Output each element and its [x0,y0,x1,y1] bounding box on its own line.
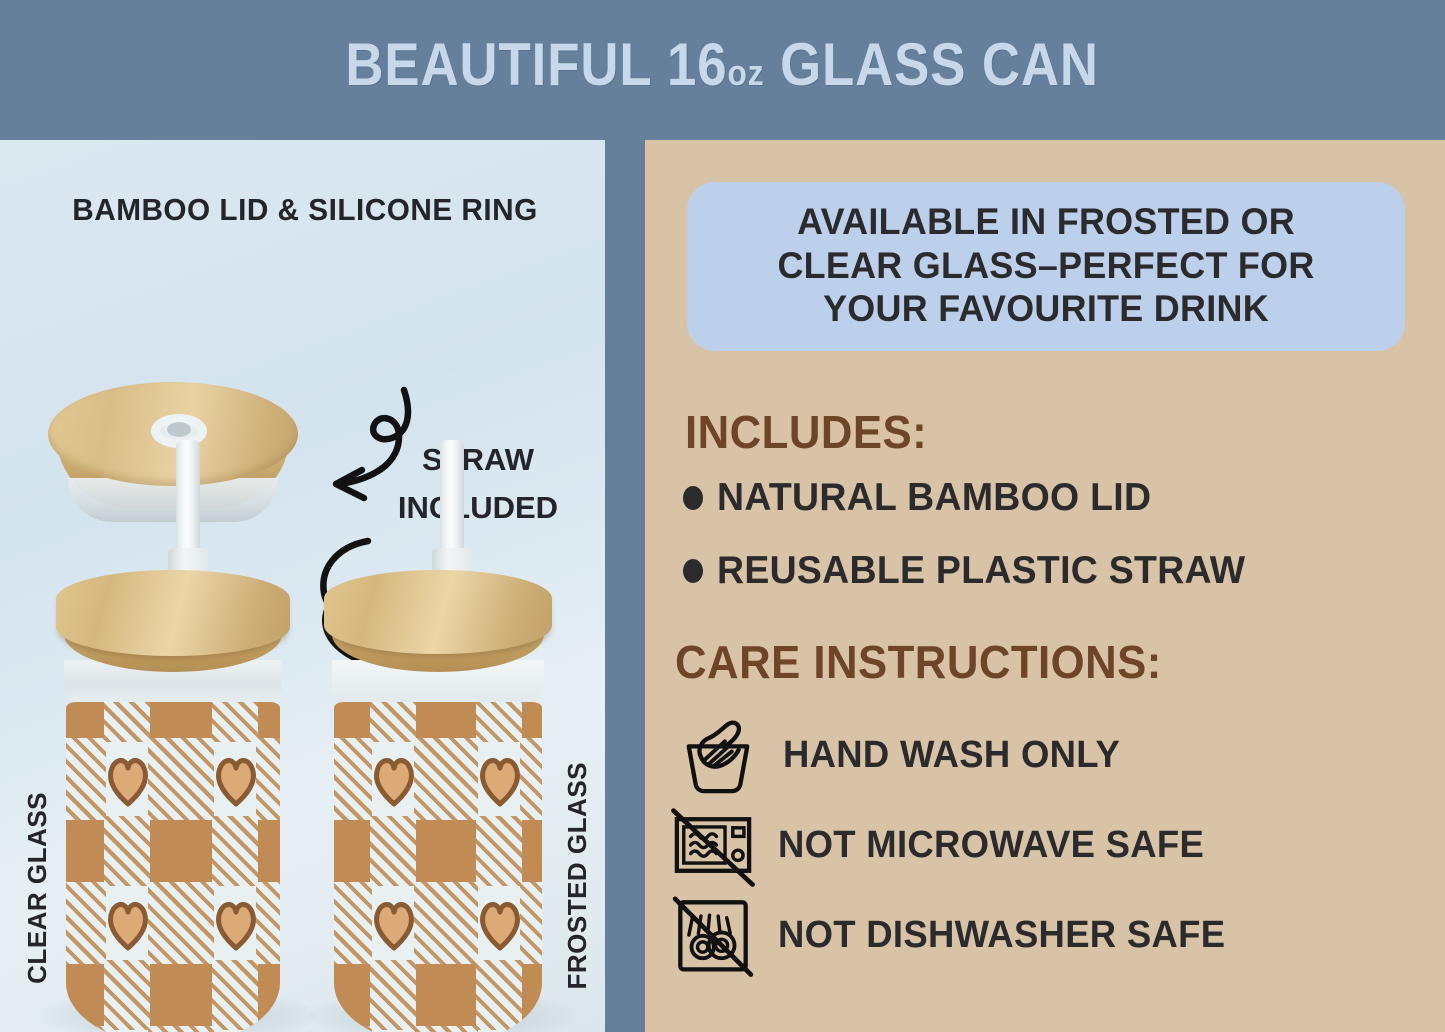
includes-item-2: REUSABLE PLASTIC STRAW [683,549,1267,593]
care-item-3-label: NOT DISHWASHER SAFE [778,914,1225,957]
straw [176,440,200,565]
heart-motif-icon [214,894,258,952]
can-body-frosted [334,702,542,1032]
care-item-1-label: HAND WASH ONLY [783,734,1120,777]
panel-divider [605,140,645,1032]
straw [440,440,464,565]
page-title: BEAUTIFUL 16oz GLASS CAN [346,30,1100,99]
plaid-pattern [66,702,280,1032]
includes-item-2-label: REUSABLE PLASTIC STRAW [717,549,1245,593]
heart-motif-icon [106,894,150,952]
clear-glass-label: CLEAR GLASS [22,792,53,984]
availability-callout: AVAILABLE IN FROSTED OR CLEAR GLASS–PERF… [687,182,1405,351]
microwave-icon [670,802,756,888]
header-banner: BEAUTIFUL 16oz GLASS CAN [0,0,1445,128]
clear-glass-can [48,430,298,1032]
bamboo-lid [324,570,552,654]
bullet-dot-icon [683,559,703,583]
callout-line-3: YOUR FAVOURITE DRINK [711,287,1380,331]
frosted-glass-label: FROSTED GLASS [562,762,593,990]
frosted-glass-can [318,430,558,1032]
includes-item-1-label: NATURAL BAMBOO LID [717,476,1151,520]
heart-motif-icon [214,750,258,808]
care-item-2-label: NOT MICROWAVE SAFE [778,824,1204,867]
bamboo-lid [56,570,290,656]
title-unit-oz: oz [728,52,765,93]
title-part-1: BEAUTIFUL 16 [346,31,728,98]
hand-wash-icon [675,712,761,798]
dishwasher-icon [670,892,756,978]
plaid-pattern [334,702,542,1032]
includes-heading: INCLUDES: [685,405,927,459]
heart-motif-icon [372,750,416,808]
product-infographic: BEAUTIFUL 16oz GLASS CAN BAMBOO LID & SI… [0,0,1445,1032]
heart-motif-icon [106,750,150,808]
heart-motif-icon [372,894,416,952]
care-item-dishwasher: NOT DISHWASHER SAFE [670,892,1244,978]
includes-item-1: NATURAL BAMBOO LID [683,476,1169,520]
care-instructions-heading: CARE INSTRUCTIONS: [675,635,1162,689]
can-body-clear [66,702,280,1032]
callout-line-1: AVAILABLE IN FROSTED OR [711,200,1380,244]
bamboo-lid-label: BAMBOO LID & SILICONE RING [22,192,588,228]
title-part-2: GLASS CAN [780,31,1099,98]
callout-line-2: CLEAR GLASS–PERFECT FOR [711,244,1380,288]
heart-motif-icon [478,750,522,808]
product-photo-panel: BAMBOO LID & SILICONE RING STRAW INCLUDE… [0,140,605,1032]
bullet-dot-icon [683,486,703,510]
care-item-microwave: NOT MICROWAVE SAFE [670,802,1222,888]
care-item-hand-wash: HAND WASH ONLY [675,712,1134,798]
product-info-panel: AVAILABLE IN FROSTED OR CLEAR GLASS–PERF… [645,140,1445,1032]
heart-motif-icon [478,894,522,952]
